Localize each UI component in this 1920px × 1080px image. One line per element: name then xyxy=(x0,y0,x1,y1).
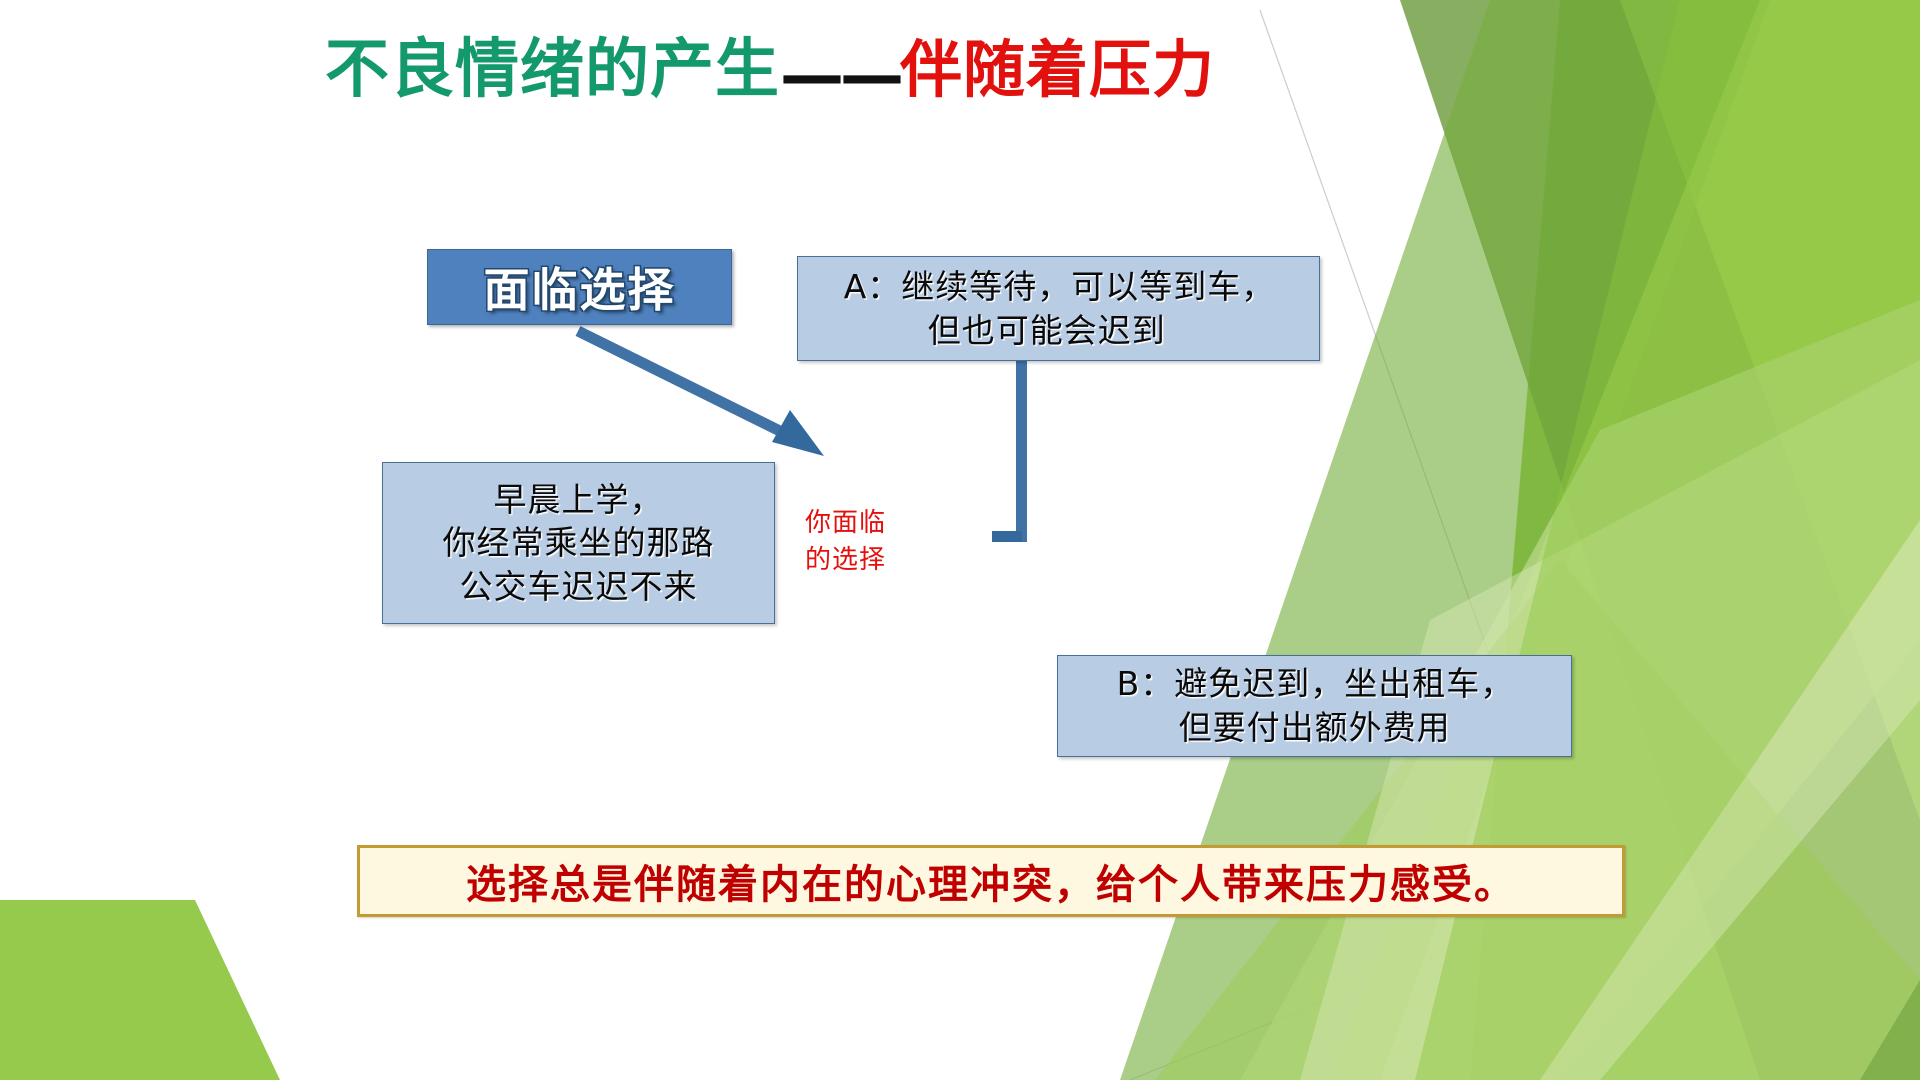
annotation-line1: 你面临 xyxy=(805,508,886,538)
option-a-text: A：继续等待，可以等到车， 但也可能会迟到 xyxy=(834,265,1284,352)
decor-shape-1 xyxy=(1470,0,1920,1080)
option-b-box[interactable]: B：避免迟到，坐出租车， 但要付出额外费用 xyxy=(1057,655,1572,757)
conclusion-text: 选择总是伴随着内在的心理冲突，给个人带来压力感受。 xyxy=(466,852,1516,910)
conclusion-banner: 选择总是伴随着内在的心理冲突，给个人带来压力感受。 xyxy=(357,845,1625,917)
decor-shape-8 xyxy=(1415,0,1920,1080)
page-title: 不良情绪的产生——伴随着压力 xyxy=(0,38,1540,102)
option-b-line2: 但要付出额外费用 xyxy=(1117,706,1515,750)
situation-line2: 你经常乘坐的那路 xyxy=(443,523,715,562)
option-a-line1: A：继续等待，可以等到车， xyxy=(844,267,1276,306)
situation-line3: 公交车迟迟不来 xyxy=(460,567,698,606)
background-decoration xyxy=(0,0,1920,1080)
situation-text: 早晨上学， 你经常乘坐的那路 公交车迟迟不来 xyxy=(435,478,723,609)
arrow-diagonal xyxy=(578,331,824,456)
annotation-line2: 的选择 xyxy=(805,545,886,575)
situation-box[interactable]: 早晨上学， 你经常乘坐的那路 公交车迟迟不来 xyxy=(382,462,775,624)
decor-shape-3 xyxy=(1120,0,1770,1080)
presentation-slide: 不良情绪的产生——伴随着压力 面临选择 A：继续等待，可以等到车， 但也可能会迟… xyxy=(0,0,1920,1080)
option-b-line1: B：避免迟到，坐出租车， xyxy=(1117,664,1515,703)
decor-shape-4 xyxy=(1330,0,1920,1080)
title-dash: —— xyxy=(780,39,900,113)
situation-line1: 早晨上学， xyxy=(494,480,664,519)
option-a-line2: 但也可能会迟到 xyxy=(844,309,1276,353)
decor-shape-6 xyxy=(1155,560,1920,1080)
option-b-text: B：避免迟到，坐出租车， 但要付出额外费用 xyxy=(1107,662,1523,749)
decor-shape-9 xyxy=(1860,980,1920,1080)
choice-chip-label: 面临选择 xyxy=(484,254,676,320)
choice-chip[interactable]: 面临选择 xyxy=(427,249,732,325)
decor-shape-bottom-left xyxy=(0,900,280,1080)
title-red-text: 伴随着压力 xyxy=(900,33,1215,106)
decor-hairline-b xyxy=(1130,760,1920,1080)
option-a-box[interactable]: A：继续等待，可以等到车， 但也可能会迟到 xyxy=(797,256,1320,361)
arrow-layer xyxy=(0,0,1920,1080)
decor-hairline-a xyxy=(1260,10,1640,1080)
decor-shape-2 xyxy=(1400,0,1920,1080)
title-green-text: 不良情绪的产生 xyxy=(325,33,780,107)
annotation-your-choice: 你面临 的选择 xyxy=(805,505,886,579)
